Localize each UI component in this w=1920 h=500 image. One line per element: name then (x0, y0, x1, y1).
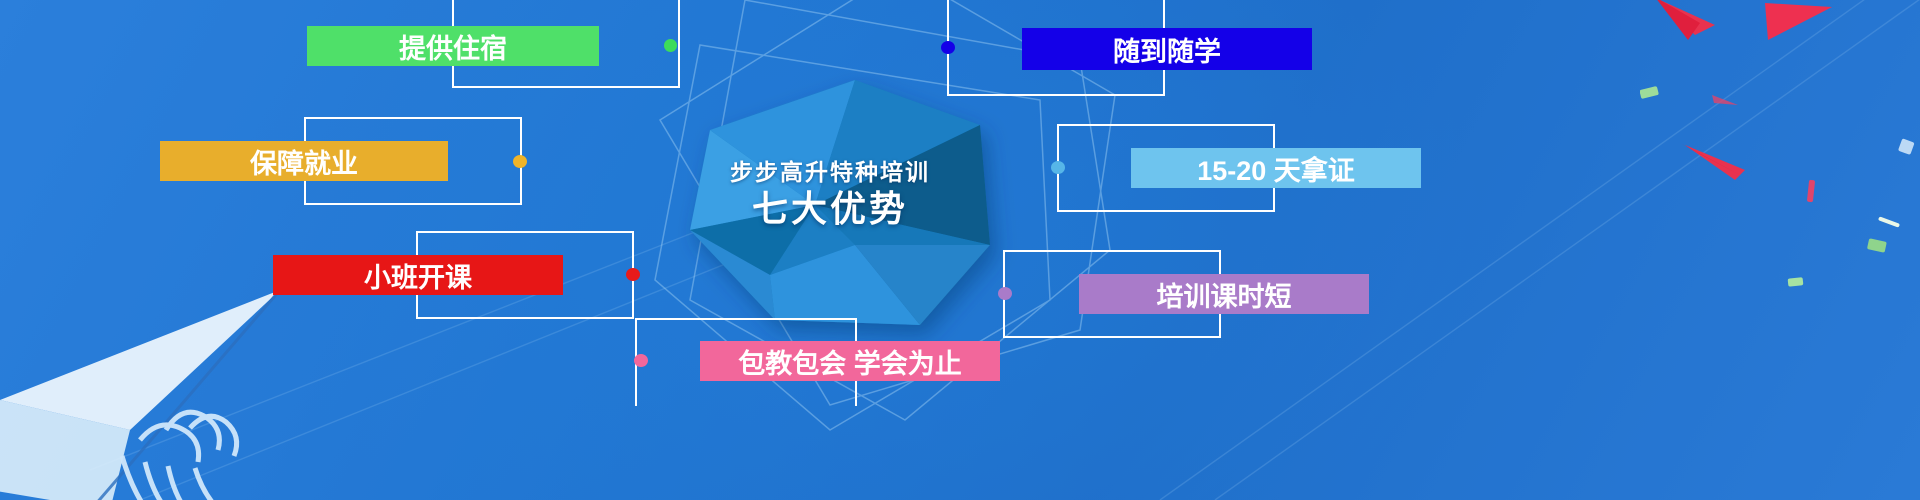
chip-fast-certificate-label: 15-20 天拿证 (1197, 149, 1355, 188)
chip-enroll-anytime[interactable]: 随到随学 (1022, 28, 1312, 70)
chip-guaranteed-learning[interactable]: 包教包会 学会为止 (700, 341, 1000, 381)
chip-guaranteed-learning-label: 包教包会 学会为止 (738, 342, 962, 381)
dot-short-course (998, 287, 1012, 300)
chip-short-course-label: 培训课时短 (1157, 275, 1292, 314)
central-gem-graphic (620, 70, 1040, 360)
chip-short-course[interactable]: 培训课时短 (1079, 274, 1369, 314)
dot-fast-certificate (1051, 161, 1065, 174)
dot-guaranteed-learning (634, 354, 648, 367)
chip-employment-label: 保障就业 (250, 142, 358, 181)
dot-employment (513, 155, 527, 168)
chip-enroll-anytime-label: 随到随学 (1113, 30, 1221, 69)
chip-accommodation[interactable]: 提供住宿 (307, 26, 599, 66)
dot-small-class (626, 268, 640, 281)
dot-accommodation (664, 39, 677, 52)
chip-accommodation-label: 提供住宿 (399, 27, 507, 66)
advantages-banner: 步步高升特种培训 七大优势 提供住宿 保障就业 小班开课 包教包会 学会为止 随… (0, 0, 1920, 500)
chip-employment[interactable]: 保障就业 (160, 141, 448, 181)
dot-enroll-anytime (941, 41, 955, 54)
chip-small-class-label: 小班开课 (364, 256, 472, 295)
chip-small-class[interactable]: 小班开课 (273, 255, 563, 295)
chip-fast-certificate[interactable]: 15-20 天拿证 (1131, 148, 1421, 188)
